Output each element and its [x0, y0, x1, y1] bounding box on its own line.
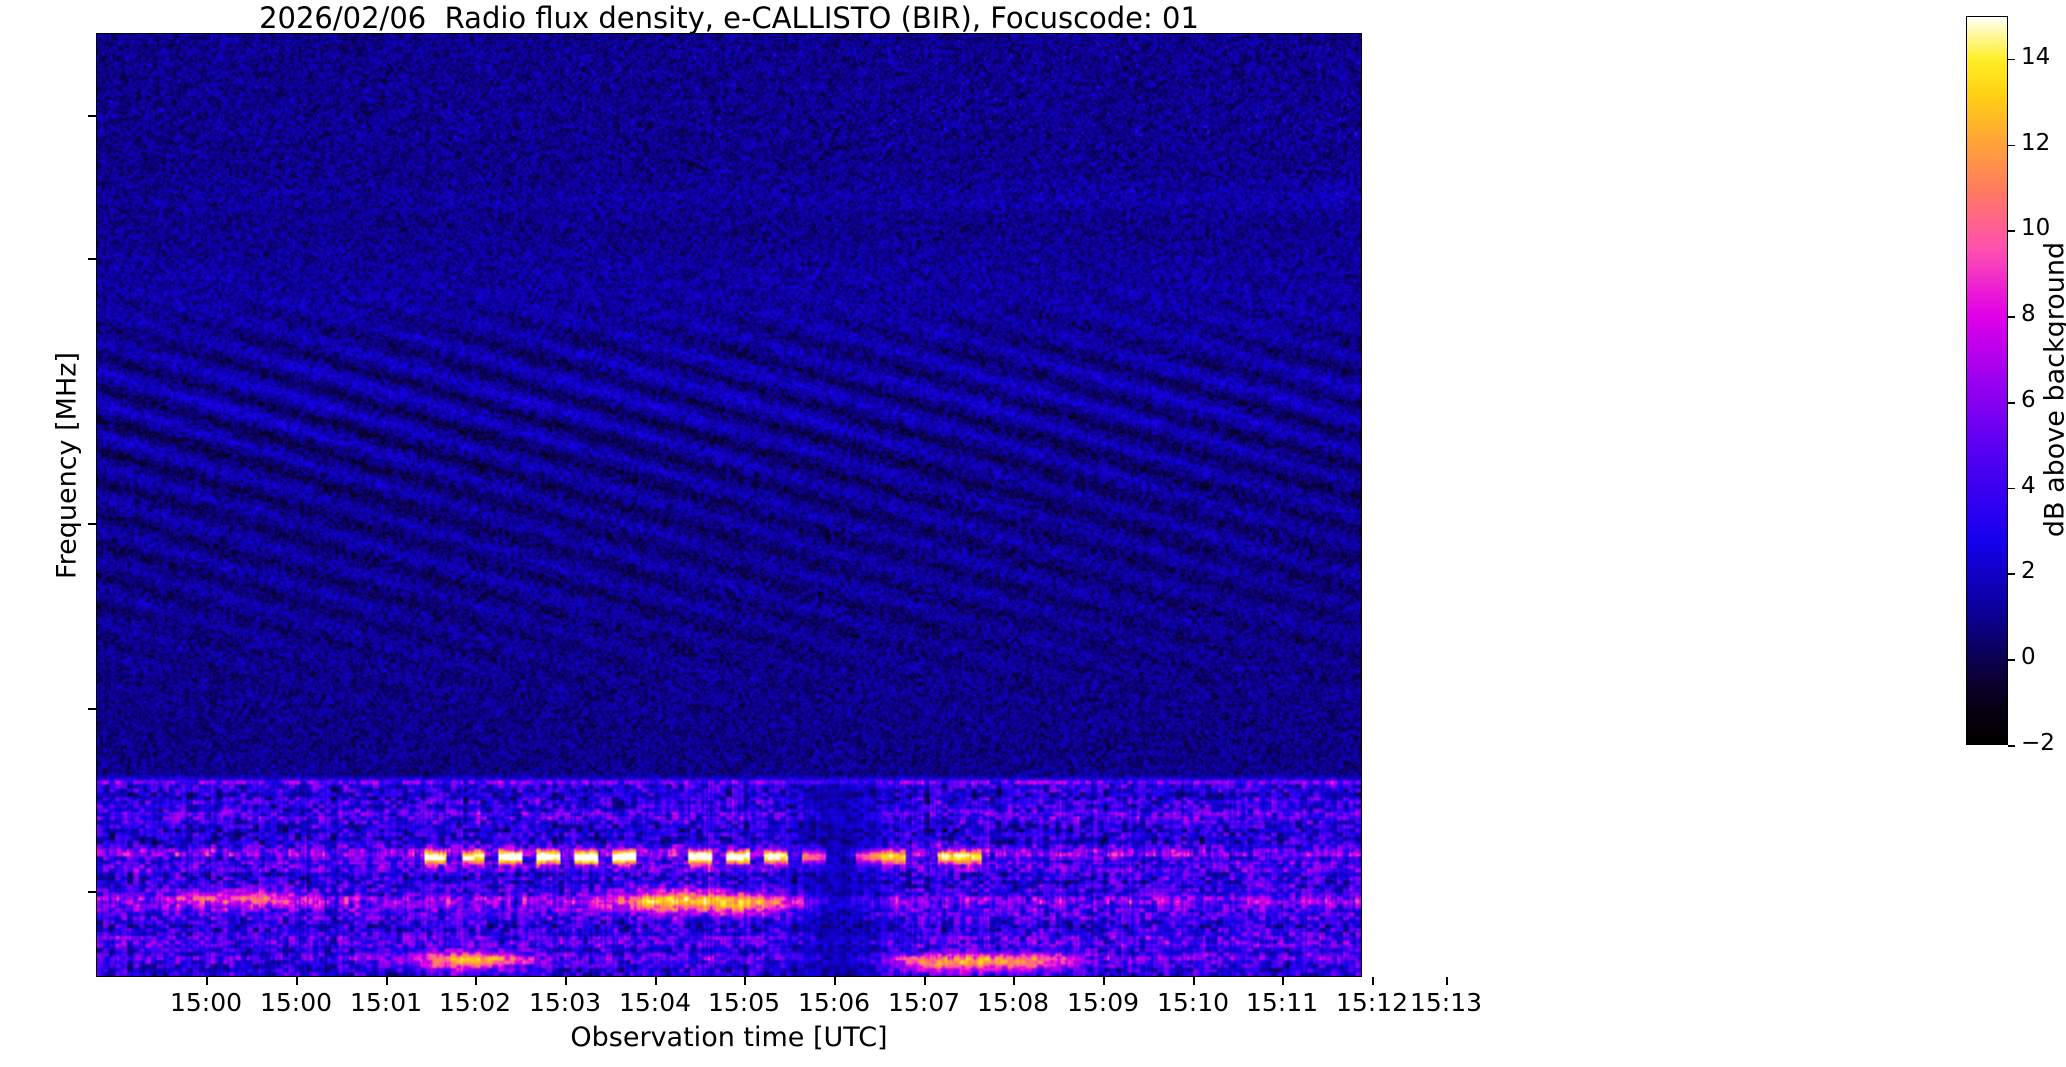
page-title: 2026/02/06 Radio flux density, e-CALLIST…: [96, 2, 1362, 34]
colorbar-tick-label: 12: [2021, 130, 2066, 156]
y-tick-mark: [88, 708, 96, 710]
x-tick-mark: [744, 977, 746, 985]
x-tick-mark: [1013, 977, 1015, 985]
y-tick-mark: [88, 115, 96, 117]
x-tick-mark: [655, 977, 657, 985]
colorbar-tick-label: 2: [2021, 558, 2066, 584]
colorbar-tick-mark: [2008, 402, 2015, 404]
colorbar-tick-mark: [2008, 659, 2015, 661]
colorbar-tick-mark: [2008, 745, 2015, 747]
x-tick-mark: [1372, 977, 1374, 985]
x-tick-mark: [1282, 977, 1284, 985]
colorbar-tick-mark: [2008, 316, 2015, 318]
colorbar-tick-mark: [2008, 230, 2015, 232]
colorbar-tick-label: 0: [2021, 644, 2066, 670]
x-axis-label: Observation time [UTC]: [96, 1022, 1362, 1053]
x-tick-mark: [1446, 977, 1448, 985]
colorbar-tick-mark: [2008, 145, 2015, 147]
colorbar: [1966, 16, 2008, 745]
colorbar-tick-label: 8: [2021, 301, 2066, 327]
y-axis-label: Frequency [MHz]: [52, 186, 83, 746]
x-tick-mark: [386, 977, 388, 985]
x-tick-mark: [296, 977, 298, 985]
spectrogram-plot-area: [96, 33, 1362, 977]
x-tick-mark: [924, 977, 926, 985]
colorbar-tick-label: 6: [2021, 387, 2066, 413]
colorbar-tick-label: 4: [2021, 473, 2066, 499]
spectrogram-image: [97, 34, 1361, 976]
x-tick-mark: [834, 977, 836, 985]
x-tick-label: 15:13: [1366, 988, 1526, 1017]
colorbar-tick-mark: [2008, 59, 2015, 61]
x-tick-mark: [1103, 977, 1105, 985]
y-tick-mark: [88, 891, 96, 893]
colorbar-tick-label: 14: [2021, 44, 2066, 70]
colorbar-tick-label: 10: [2021, 215, 2066, 241]
y-tick-mark: [88, 258, 96, 260]
colorbar-tick-mark: [2008, 573, 2015, 575]
colorbar-tick-label: −2: [2021, 730, 2066, 756]
x-tick-mark: [475, 977, 477, 985]
y-tick-mark: [88, 523, 96, 525]
colorbar-tick-mark: [2008, 488, 2015, 490]
x-tick-mark: [206, 977, 208, 985]
x-tick-mark: [565, 977, 567, 985]
spectrogram-figure: 2026/02/06 Radio flux density, e-CALLIST…: [0, 0, 2066, 1067]
x-tick-mark: [1193, 977, 1195, 985]
